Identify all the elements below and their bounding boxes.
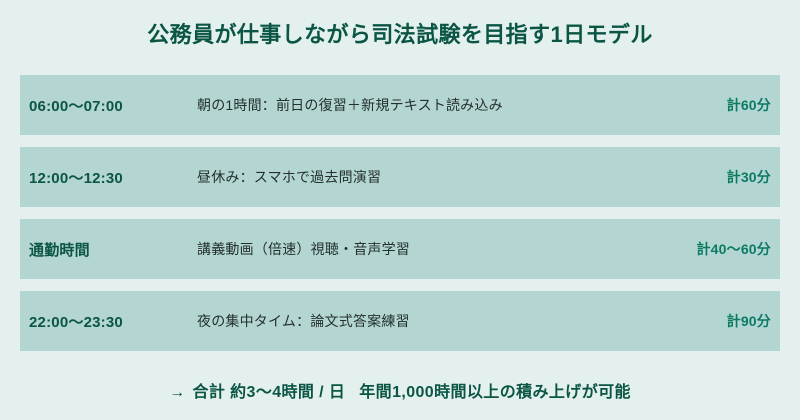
arrow-right-icon: → <box>169 384 185 402</box>
schedule-row-total: 計60分 <box>727 95 780 115</box>
schedule-row: 22:00〜23:30 夜の集中タイム：論文式答案練習 計90分 <box>20 291 780 351</box>
schedule-row-time: 22:00〜23:30 <box>29 311 197 332</box>
summary-note-text: 年間1,000時間以上の積み上げが可能 <box>359 384 631 401</box>
summary-total-text: 合計 約3〜4時間 / 日 <box>192 384 345 401</box>
schedule-row-total: 計90分 <box>727 311 780 331</box>
schedule-list: 06:00〜07:00 朝の1時間：前日の復習＋新規テキスト読み込み 計60分 … <box>20 75 780 363</box>
schedule-row: 12:00〜12:30 昼休み：スマホで過去問演習 計30分 <box>20 147 780 207</box>
schedule-row-total: 計40〜60分 <box>696 239 780 259</box>
page-title: 公務員が仕事しながら司法試験を目指す1日モデル <box>0 17 800 49</box>
schedule-row: 06:00〜07:00 朝の1時間：前日の復習＋新規テキスト読み込み 計60分 <box>20 75 780 135</box>
schedule-row-description: 講義動画（倍速）視聴・音声学習 <box>197 239 696 259</box>
schedule-row-total: 計30分 <box>727 167 780 187</box>
schedule-row-description: 朝の1時間：前日の復習＋新規テキスト読み込み <box>197 95 727 115</box>
infographic-page: 公務員が仕事しながら司法試験を目指す1日モデル 06:00〜07:00 朝の1時… <box>0 0 800 420</box>
schedule-row-description: 夜の集中タイム：論文式答案練習 <box>197 311 727 331</box>
schedule-row-time: 06:00〜07:00 <box>29 95 197 116</box>
schedule-row-description: 昼休み：スマホで過去問演習 <box>197 167 727 187</box>
schedule-row-time: 12:00〜12:30 <box>29 167 197 188</box>
summary-footer: →合計 約3〜4時間 / 日年間1,000時間以上の積み上げが可能 <box>0 378 800 402</box>
schedule-row: 通勤時間 講義動画（倍速）視聴・音声学習 計40〜60分 <box>20 219 780 279</box>
schedule-row-time: 通勤時間 <box>29 239 197 260</box>
